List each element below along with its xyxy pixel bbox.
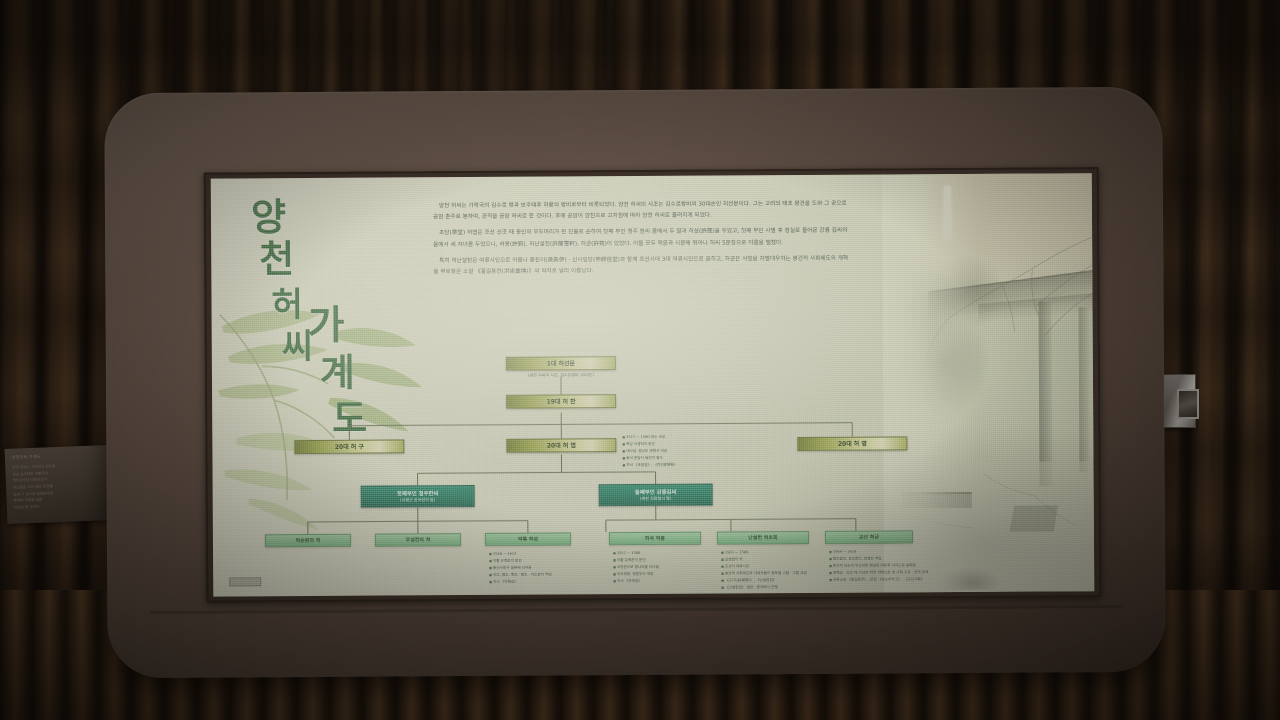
scene-vignette bbox=[0, 0, 1280, 720]
screenshot-root: 양천허씨 가계도 양천 허씨는 가락국의 김수로 왕과 보주태후 허황옥의 왕비… bbox=[0, 0, 1280, 720]
